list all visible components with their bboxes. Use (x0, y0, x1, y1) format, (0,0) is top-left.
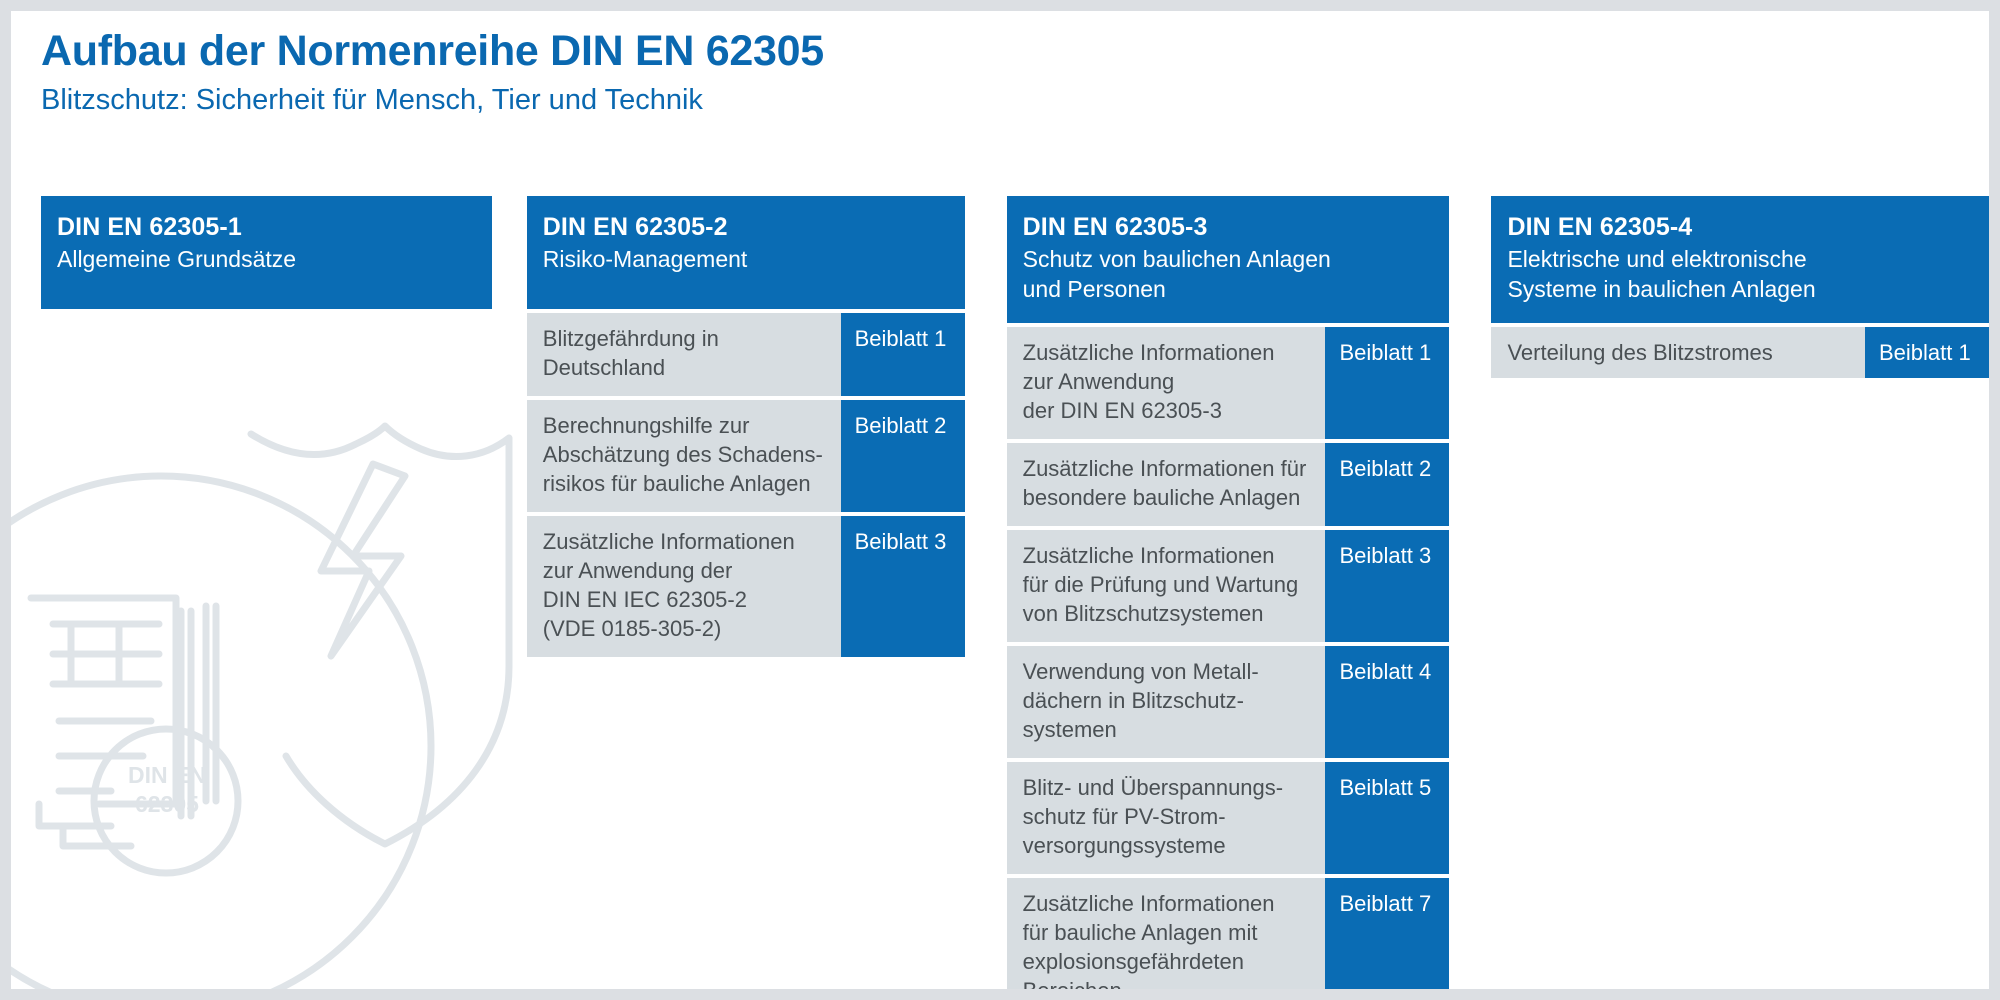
supplement-badge: Beiblatt 3 (841, 516, 965, 657)
column-header: DIN EN 62305-3 Schutz von baulichen Anla… (1007, 196, 1450, 323)
supplement-label: Blitzgefährdung in Deutschland (527, 313, 841, 396)
supplement-badge: Beiblatt 1 (1865, 327, 1989, 378)
page-title: Aufbau der Normenreihe DIN EN 62305 (41, 27, 824, 76)
column-header: DIN EN 62305-1 Allgemeine Grundsätze (41, 196, 492, 309)
heading-block: Aufbau der Normenreihe DIN EN 62305 Blit… (41, 27, 824, 119)
page-frame: DIN EN 62305 Aufbau der Normenreihe DIN … (0, 0, 2000, 1000)
supplement-list: Blitzgefährdung in Deutschland Beiblatt … (527, 309, 965, 657)
supplement-badge: Beiblatt 2 (1325, 443, 1449, 526)
supplement-list: Verteilung des Blitzstromes Beiblatt 1 (1491, 323, 1989, 378)
standard-column-62305-4: DIN EN 62305-4 Elektrische und elektroni… (1491, 196, 1989, 378)
supplement-list: Zusätzliche Informationen zur Anwendung … (1007, 323, 1450, 989)
standard-column-62305-2: DIN EN 62305-2 Risiko-Management Blitzge… (527, 196, 965, 657)
supplement-label: Zusätzliche Informationen für bauliche A… (1007, 878, 1326, 989)
standard-column-62305-3: DIN EN 62305-3 Schutz von baulichen Anla… (1007, 196, 1450, 989)
supplement-row[interactable]: Verwendung von Metall- dächern in Blitzs… (1007, 646, 1450, 758)
column-name: Elektrische und elektronische Systeme in… (1507, 245, 1973, 305)
column-code: DIN EN 62305-1 (57, 212, 476, 242)
supplement-badge: Beiblatt 3 (1325, 530, 1449, 642)
supplement-label: Zusätzliche Informationen zur Anwendung … (527, 516, 841, 657)
column-name: Allgemeine Grundsätze (57, 245, 476, 275)
column-name: Schutz von baulichen Anlagen und Persone… (1023, 245, 1434, 305)
page-subtitle: Blitzschutz: Sicherheit für Mensch, Tier… (41, 82, 824, 118)
supplement-label: Zusätzliche Informationen zur Anwendung … (1007, 327, 1326, 439)
supplement-label: Zusätzliche Informationen für besondere … (1007, 443, 1326, 526)
supplement-badge: Beiblatt 1 (1325, 327, 1449, 439)
column-header: DIN EN 62305-2 Risiko-Management (527, 196, 965, 309)
supplement-row[interactable]: Zusätzliche Informationen zur Anwendung … (1007, 327, 1450, 439)
column-name: Risiko-Management (543, 245, 949, 275)
supplement-row[interactable]: Zusätzliche Informationen für besondere … (1007, 443, 1450, 526)
supplement-label: Zusätzliche Informationen für die Prüfun… (1007, 530, 1326, 642)
supplement-label: Blitz- und Überspannungs- schutz für PV-… (1007, 762, 1326, 874)
supplement-label: Verwendung von Metall- dächern in Blitzs… (1007, 646, 1326, 758)
supplement-badge: Beiblatt 1 (841, 313, 965, 396)
supplement-row[interactable]: Zusätzliche Informationen zur Anwendung … (527, 516, 965, 657)
infographic-canvas: DIN EN 62305 Aufbau der Normenreihe DIN … (11, 11, 1989, 989)
supplement-label: Verteilung des Blitzstromes (1491, 327, 1865, 378)
column-code: DIN EN 62305-3 (1023, 212, 1434, 242)
supplement-row[interactable]: Blitzgefährdung in Deutschland Beiblatt … (527, 313, 965, 396)
supplement-row[interactable]: Berechnungshilfe zur Abschätzung des Sch… (527, 400, 965, 512)
supplement-badge: Beiblatt 5 (1325, 762, 1449, 874)
standards-columns: DIN EN 62305-1 Allgemeine Grundsätze DIN… (41, 196, 1989, 989)
supplement-row[interactable]: Zusätzliche Informationen für bauliche A… (1007, 878, 1450, 989)
supplement-badge: Beiblatt 4 (1325, 646, 1449, 758)
column-code: DIN EN 62305-4 (1507, 212, 1973, 242)
supplement-badge: Beiblatt 7 (1325, 878, 1449, 989)
column-code: DIN EN 62305-2 (543, 212, 949, 242)
standard-column-62305-1: DIN EN 62305-1 Allgemeine Grundsätze (41, 196, 492, 309)
supplement-badge: Beiblatt 2 (841, 400, 965, 512)
supplement-row[interactable]: Zusätzliche Informationen für die Prüfun… (1007, 530, 1450, 642)
supplement-row[interactable]: Blitz- und Überspannungs- schutz für PV-… (1007, 762, 1450, 874)
supplement-label: Berechnungshilfe zur Abschätzung des Sch… (527, 400, 841, 512)
supplement-row[interactable]: Verteilung des Blitzstromes Beiblatt 1 (1491, 327, 1989, 378)
column-header: DIN EN 62305-4 Elektrische und elektroni… (1491, 196, 1989, 323)
